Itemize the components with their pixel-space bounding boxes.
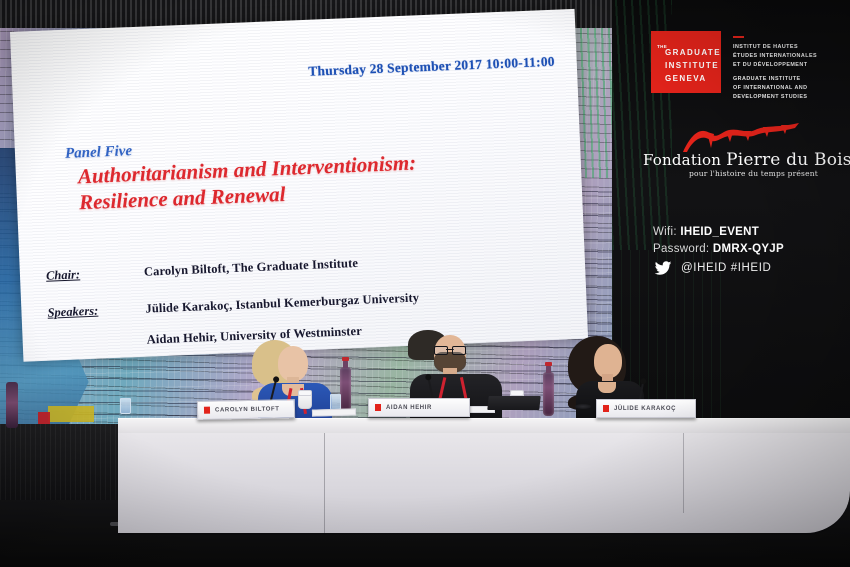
logo-line-institute: INSTITUTE (665, 61, 719, 70)
water-bottle-center (340, 367, 351, 411)
wallpaper-red-patch (38, 412, 50, 424)
desk-seam-right (683, 433, 684, 513)
projection-screen: Thursday 28 September 2017 10:00-11:00 P… (10, 9, 588, 362)
slide-surface: Thursday 28 September 2017 10:00-11:00 P… (10, 9, 588, 362)
slide-panel-label: Panel Five (65, 143, 133, 163)
nameplate-text: JÜLIDE KARAKOÇ (614, 406, 676, 412)
fondation-pierre-du-bois-logo: Fondation Pierre du Bois pour l'histoire… (643, 122, 828, 184)
graduate-institute-logo: THE GRADUATE INSTITUTE GENEVA (651, 31, 721, 93)
slide-title: Authoritarianism and Interventionism: Re… (77, 144, 549, 216)
nameplate-logo-mark (603, 405, 609, 412)
laptop (487, 396, 540, 410)
wifi-info-block: Wifi: IHEID_EVENT Password: DMRX-QYJP @I… (653, 224, 784, 277)
social-handles: @IHEID #IHEID (681, 260, 771, 277)
drinking-glass-center (330, 394, 341, 410)
subtitle-fr-line-3: ET DU DÉVELOPPEMENT (733, 61, 849, 70)
nameplate-julide-karakoc: JÜLIDE KARAKOÇ (596, 399, 696, 418)
nameplate-text: CAROLYN BILTOFT (215, 406, 280, 413)
wifi-password-label: Password: (653, 243, 709, 255)
wifi-ssid-label: Wifi: (653, 226, 677, 238)
coffee-cup-left (298, 392, 312, 409)
drinking-glass-left (120, 398, 131, 414)
nameplate-aidan-hehir: AIDAN HEHIR (368, 398, 470, 417)
wifi-password-row: Password: DMRX-QYJP (653, 241, 784, 258)
twitter-bird-icon (653, 261, 672, 276)
foundation-name-part1: Fondation (643, 151, 726, 169)
subtitle-french: INSTITUT DE HAUTES ÉTUDES INTERNATIONALE… (733, 43, 849, 70)
foundation-name: Fondation Pierre du Bois (643, 150, 850, 170)
wifi-ssid-value: IHEID_EVENT (680, 226, 759, 238)
microphone-base (575, 404, 591, 409)
slide-datetime: Thursday 28 September 2017 10:00-11:00 (308, 54, 555, 80)
foundation-name-part2: Pierre du Bois (726, 150, 850, 170)
bottle-cap (342, 357, 349, 361)
head (594, 344, 622, 378)
nameplate-carolyn-biltoft: CAROLYN BILTOFT (197, 399, 295, 420)
chest (598, 382, 616, 393)
logo-line-graduate: GRADUATE (665, 48, 721, 57)
wifi-password-value: DMRX-QYJP (713, 243, 784, 255)
subtitle-dash (733, 36, 744, 38)
nameplate-logo-mark (375, 404, 381, 411)
subtitle-fr-line-2: ÉTUDES INTERNATIONALES (733, 52, 849, 61)
water-bottle-left (6, 382, 18, 428)
nameplate-logo-mark (204, 407, 210, 414)
role-row-speaker-1: Speakers: Jülide Karakoç, Istanbul Kemer… (47, 285, 547, 320)
subtitle-english: GRADUATE INSTITUTE OF INTERNATIONAL AND … (733, 75, 849, 102)
desk-front-panel (118, 433, 850, 535)
eyeglasses-icon (434, 346, 466, 353)
brush-stroke-icon (681, 122, 801, 152)
role-value-speaker-1: Jülide Karakoç, Istanbul Kemerburgaz Uni… (145, 290, 419, 316)
conference-desk (118, 418, 850, 538)
role-key-chair: Chair: (46, 265, 145, 284)
desk-seam-left (324, 433, 325, 533)
logo-line-geneva: GENEVA (665, 74, 707, 83)
subtitle-en-line-2: OF INTERNATIONAL AND (733, 84, 849, 93)
head (278, 346, 308, 381)
wifi-ssid-row: Wifi: IHEID_EVENT (653, 224, 784, 241)
bottle-cap (545, 362, 552, 366)
graduate-institute-subtitle: INSTITUT DE HAUTES ÉTUDES INTERNATIONALE… (733, 36, 849, 106)
nameplate-text: AIDAN HEHIR (386, 405, 432, 411)
subtitle-en-line-1: GRADUATE INSTITUTE (733, 75, 849, 84)
conference-photo: Thursday 28 September 2017 10:00-11:00 P… (0, 0, 850, 567)
foundation-tagline: pour l'histoire du temps présent (689, 169, 818, 178)
water-bottle-right (543, 372, 554, 416)
role-value-chair: Carolyn Biltoft, The Graduate Institute (144, 256, 359, 280)
wallpaper-yellow-patch (48, 406, 94, 422)
subtitle-fr-line-1: INSTITUT DE HAUTES (733, 43, 849, 52)
papers-left (312, 408, 356, 416)
role-key-speakers: Speakers: (47, 302, 146, 321)
subtitle-en-line-3: DEVELOPMENT STUDIES (733, 93, 849, 102)
social-row: @IHEID #IHEID (653, 260, 784, 277)
cup-lid (298, 390, 312, 396)
role-row-chair: Chair: Carolyn Biltoft, The Graduate Ins… (46, 248, 546, 283)
